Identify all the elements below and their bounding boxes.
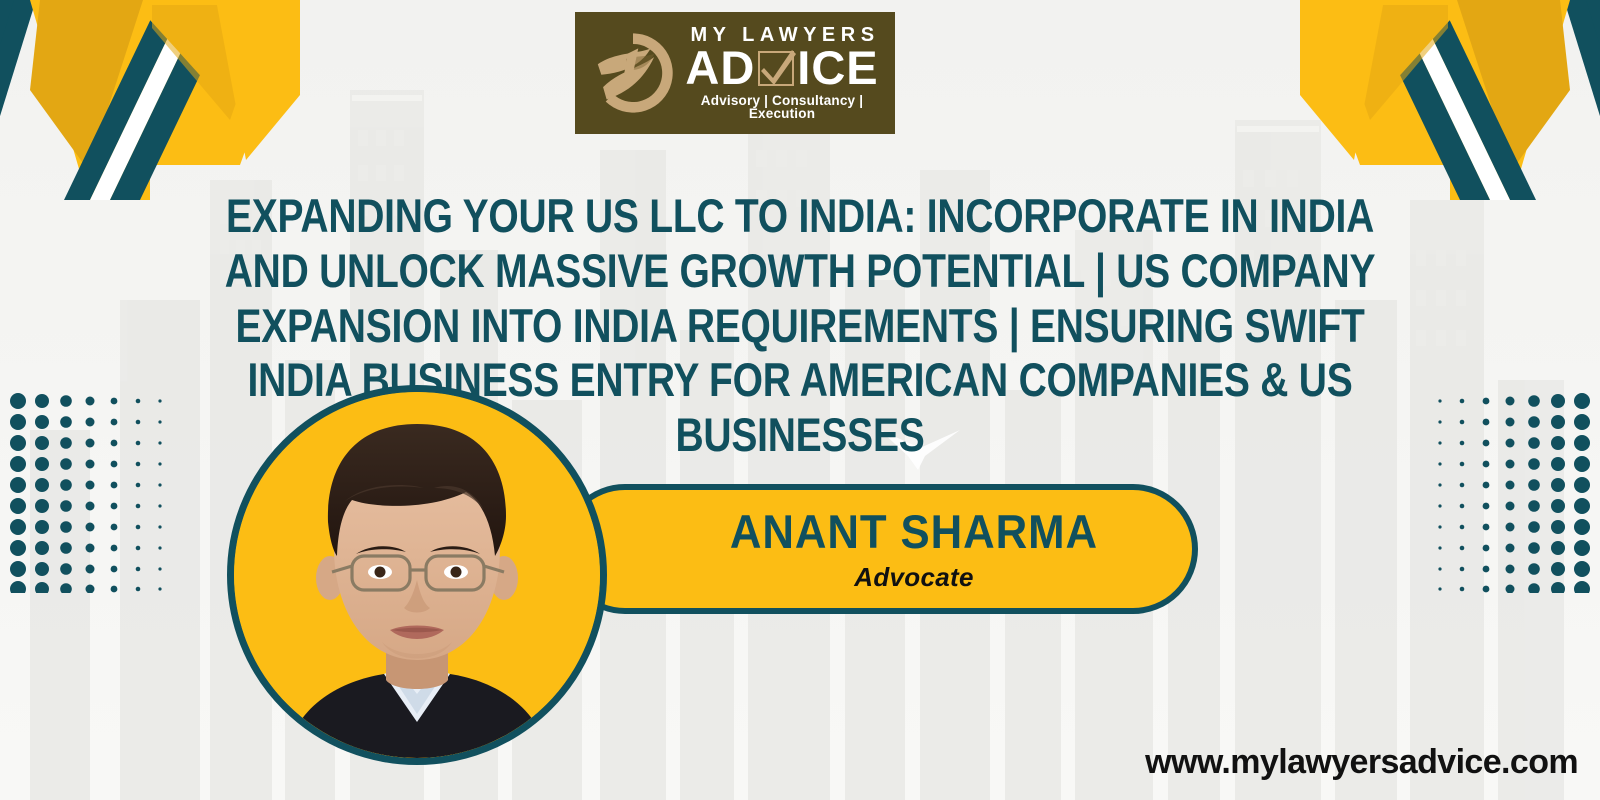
avatar (227, 385, 607, 765)
speaker-role: Advocate (854, 564, 973, 590)
logo-line-advice: ADICE (683, 46, 881, 91)
speaker-name: ANANT SHARMA (730, 508, 1098, 555)
bird-leaf-emblem-icon (589, 29, 677, 117)
logo-tagline: Advisory | Consultancy | Execution (683, 94, 881, 121)
logo-ad-text: AD (685, 41, 755, 94)
website-url[interactable]: www.mylawyersadvice.com (1145, 743, 1578, 782)
speaker-name-badge: ANANT SHARMA Advocate (560, 484, 1198, 614)
brand-logo[interactable]: MY LAWYERS ADICE Advisory | Consultancy … (575, 12, 895, 134)
promotional-banner: MY LAWYERS ADICE Advisory | Consultancy … (0, 0, 1600, 800)
logo-ice-text: ICE (797, 41, 878, 94)
checkmark-icon (756, 48, 796, 88)
